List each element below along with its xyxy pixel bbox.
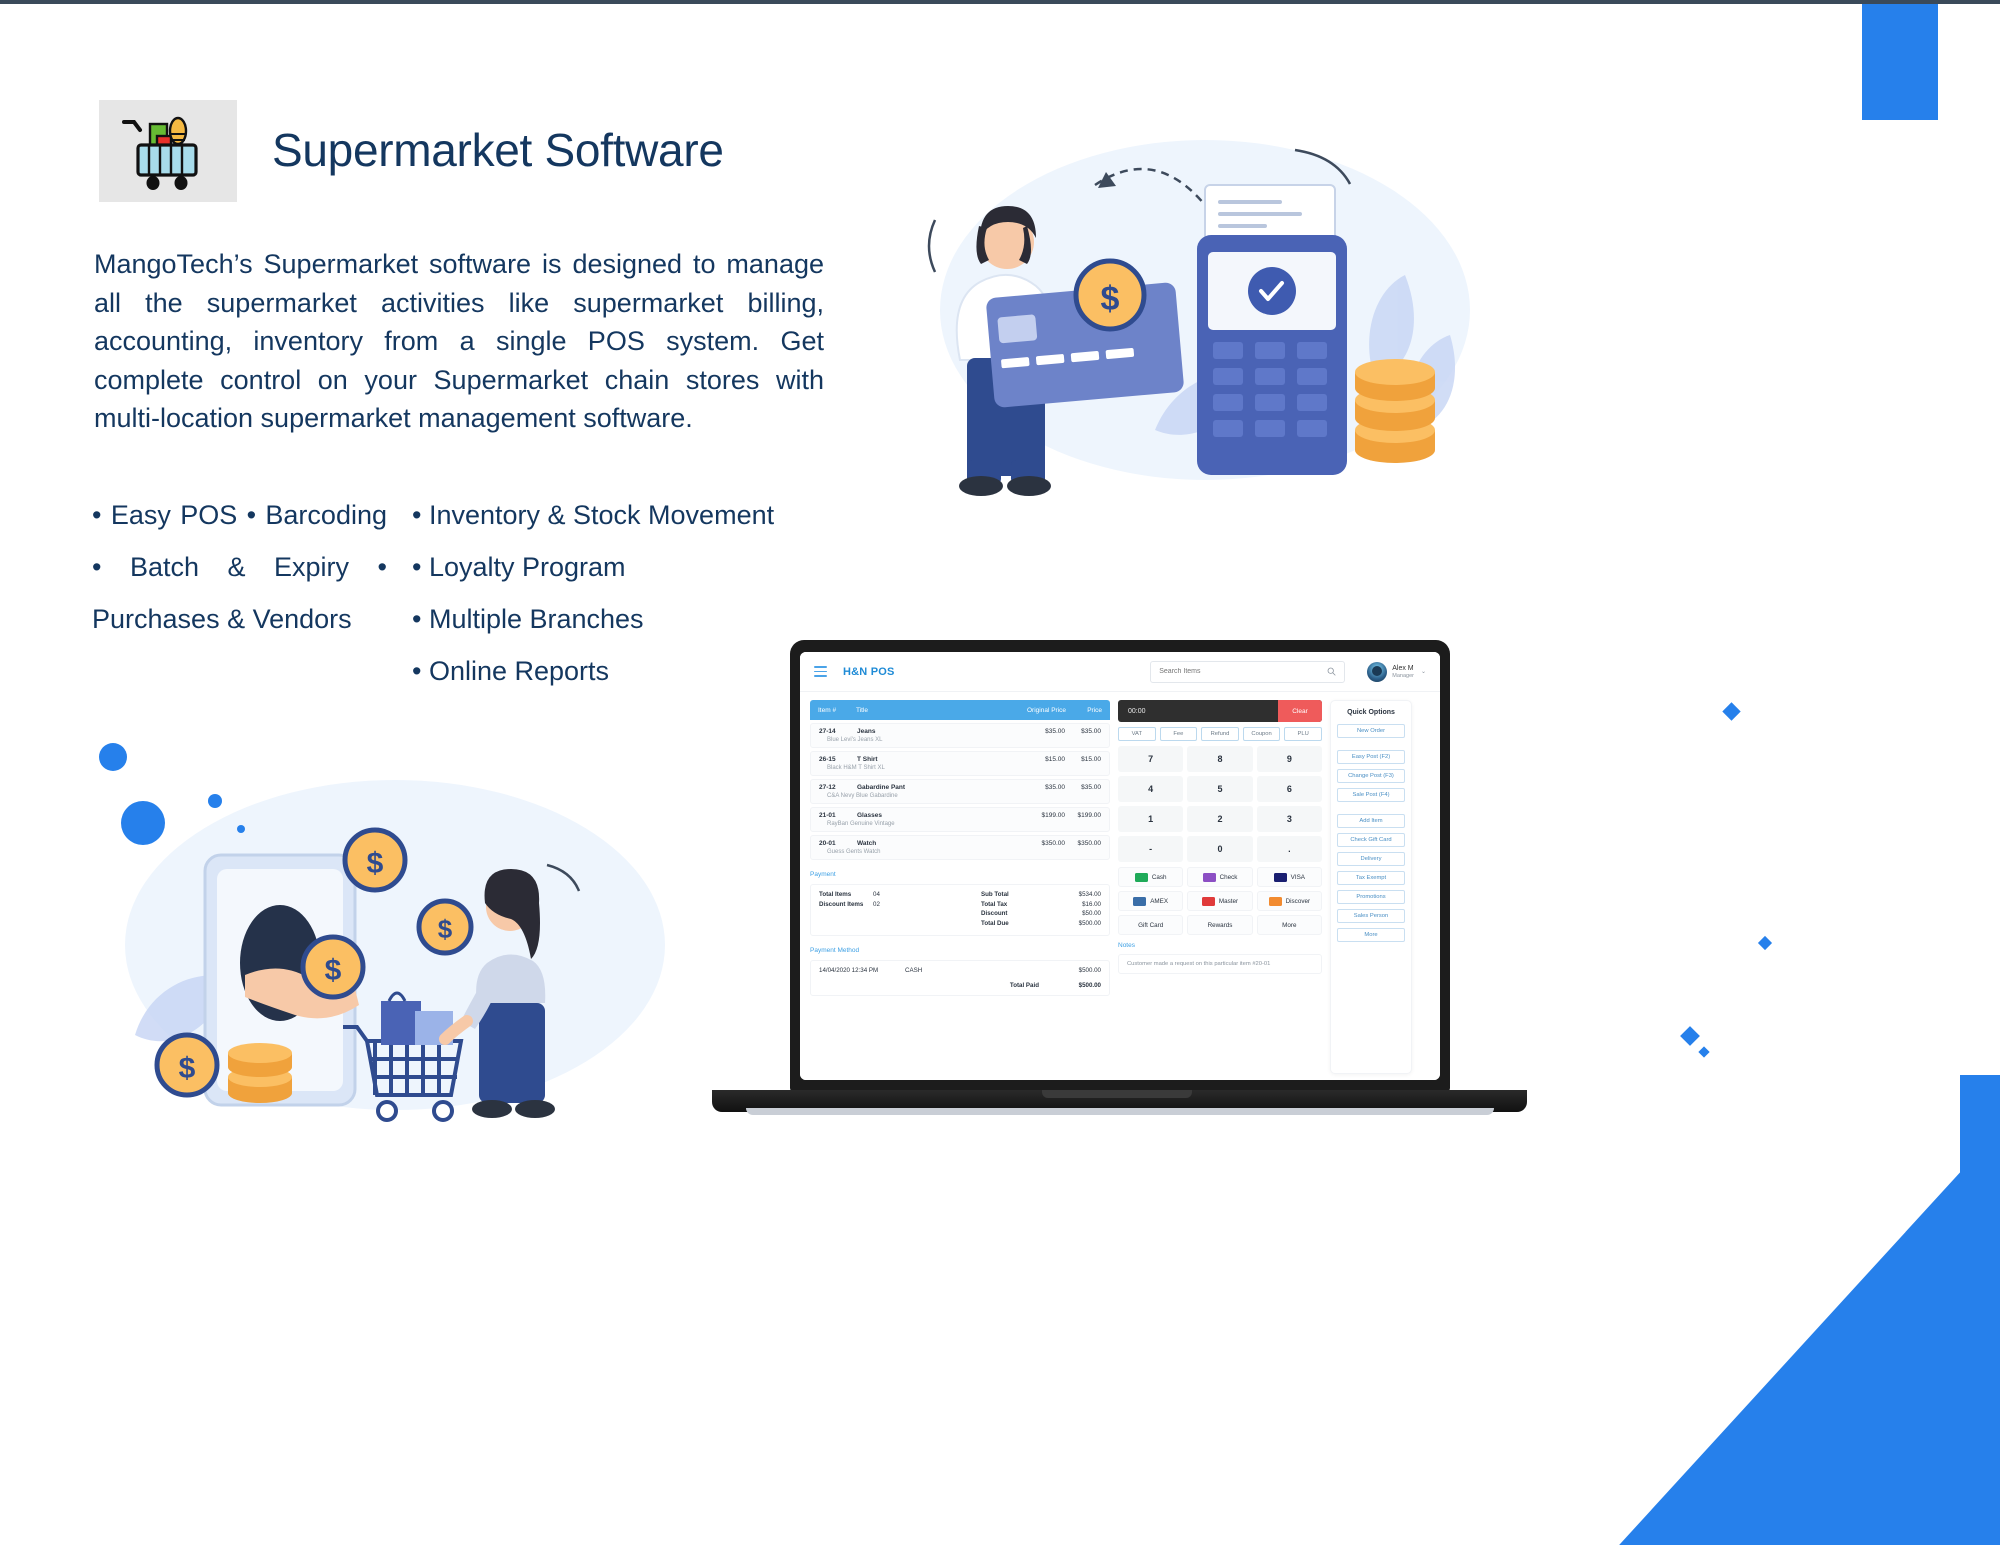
- pos-application: H&N POS Alex M Manag: [800, 652, 1440, 1080]
- laptop-body: H&N POS Alex M Manag: [790, 640, 1450, 1092]
- mobile-shopping-illustration: $ $ $ $: [95, 735, 670, 1125]
- bottom-right-blue-accent: [1480, 985, 2000, 1545]
- discount-items-label: Discount Items: [819, 901, 873, 908]
- pay-button-check[interactable]: Check: [1187, 867, 1252, 887]
- card-terminal-illustration: $: [905, 130, 1485, 530]
- cell-title: Glasses: [857, 812, 1011, 819]
- user-name: Alex M: [1392, 664, 1414, 673]
- payment-summary: Total Items 04 Discount Items 02: [810, 884, 1110, 936]
- cell-title: Watch: [857, 840, 1011, 847]
- cell-description: RayBan Genuine Vintage: [827, 821, 1101, 827]
- key-6[interactable]: 6: [1257, 776, 1322, 802]
- pay-button-rewards[interactable]: Rewards: [1187, 915, 1252, 935]
- svg-text:$: $: [367, 847, 384, 880]
- keypad-panel: 00:00 Clear VAT Fee Refund Coupon PLU: [1118, 700, 1322, 1074]
- pos-body: Item # Title Original Price Price 27-14: [800, 692, 1440, 1080]
- svg-text:$: $: [1101, 280, 1120, 318]
- cell-price: $35.00: [1065, 784, 1101, 791]
- feature-item: • Inventory & Stock Movement: [412, 489, 832, 541]
- total-items-value: 04: [873, 891, 880, 898]
- summary-label: Sub Total: [981, 891, 1053, 898]
- cell-original-price: $15.00: [1011, 756, 1065, 763]
- cell-description: Black H&M T Shirt XL: [827, 765, 1101, 771]
- discover-icon: [1269, 897, 1282, 906]
- summary-label: Discount: [981, 910, 1053, 917]
- top-rule-divider: [0, 0, 2000, 4]
- feature-item: • Multiple Branches: [412, 593, 832, 645]
- key-3[interactable]: 3: [1257, 806, 1322, 832]
- table-row[interactable]: 27-14 Jeans $35.00 $35.00 Blue Levi's Je…: [810, 723, 1110, 748]
- tab-refund[interactable]: Refund: [1201, 727, 1239, 741]
- pay-button-cash[interactable]: Cash: [1118, 867, 1183, 887]
- tab-coupon[interactable]: Coupon: [1243, 727, 1281, 741]
- table-row[interactable]: 27-12 Gabardine Pant $35.00 $35.00 C&A N…: [810, 779, 1110, 804]
- cell-original-price: $199.00: [1011, 812, 1065, 819]
- table-row[interactable]: 26-15 T Shirt $15.00 $15.00 Black H&M T …: [810, 751, 1110, 776]
- cell-item: 21-01: [819, 812, 857, 819]
- summary-value: $50.00: [1053, 910, 1101, 917]
- cell-price: $199.00: [1065, 812, 1101, 819]
- cell-title: Gabardine Pant: [857, 784, 1011, 791]
- laptop-screen: H&N POS Alex M Manag: [800, 652, 1440, 1080]
- search-icon: [1327, 667, 1336, 676]
- cell-item: 26-15: [819, 756, 857, 763]
- quick-options-panel: Quick Options New Order Easy Post (F2) C…: [1330, 700, 1412, 1074]
- laptop-foot: [746, 1108, 1494, 1115]
- intro-paragraph: MangoTech’s Supermarket software is desi…: [94, 245, 824, 438]
- hamburger-menu-icon[interactable]: [814, 666, 827, 676]
- key-7[interactable]: 7: [1118, 746, 1183, 772]
- pay-button-amex[interactable]: AMEX: [1118, 891, 1183, 911]
- key-9[interactable]: 9: [1257, 746, 1322, 772]
- laptop-notch: [1042, 1090, 1192, 1098]
- cell-description: C&A Nevy Blue Gabardine: [827, 793, 1101, 799]
- keypad-display: 00:00 Clear: [1118, 700, 1322, 722]
- cell-item: 27-12: [819, 784, 857, 791]
- cell-description: Blue Levi's Jeans XL: [827, 737, 1101, 743]
- notes-label: Notes: [1118, 942, 1322, 949]
- features-left-column: • Easy POS • Barcoding • Batch & Expiry …: [92, 489, 387, 645]
- visa-icon: [1274, 873, 1287, 882]
- payment-method-label: Payment Method: [810, 947, 1110, 954]
- payment-section-label: Payment: [810, 871, 1110, 878]
- cell-item: 20-01: [819, 840, 857, 847]
- poster-page: Supermarket Software MangoTech’s Superma…: [0, 0, 2000, 1545]
- payment-illustration: $: [905, 130, 1485, 530]
- quick-option-more[interactable]: More: [1337, 928, 1405, 942]
- pay-button-more[interactable]: More: [1257, 915, 1322, 935]
- cell-price: $15.00: [1065, 756, 1101, 763]
- summary-label: Total Tax: [981, 901, 1053, 908]
- quick-option-change-post[interactable]: Change Post (F3): [1337, 769, 1405, 783]
- search-input-wrapper[interactable]: [1150, 661, 1345, 683]
- key-dot[interactable]: .: [1257, 836, 1322, 862]
- decor-dot: [99, 743, 127, 771]
- summary-value: $500.00: [1053, 920, 1101, 927]
- column-header-price: Price: [1066, 707, 1102, 714]
- feature-item: • Loyalty Program: [412, 541, 832, 593]
- payment-method-row: 14/04/2020 12:34 PM CASH $500.00: [819, 967, 1101, 974]
- avatar: [1367, 662, 1387, 682]
- quick-option-tax-exempt[interactable]: Tax Exempt: [1337, 871, 1405, 885]
- column-header-item: Item #: [818, 707, 856, 714]
- quick-option-new-order[interactable]: New Order: [1337, 724, 1405, 738]
- quick-option-easy-post[interactable]: Easy Post (F2): [1337, 750, 1405, 764]
- chevron-down-icon[interactable]: ⌄: [1421, 668, 1426, 675]
- discount-items-value: 02: [873, 901, 880, 908]
- shopping-cart-icon: [116, 112, 220, 190]
- cell-item: 27-14: [819, 728, 857, 735]
- column-header-original-price: Original Price: [1012, 707, 1066, 714]
- payment-type: CASH: [905, 967, 1053, 974]
- decor-dot: [237, 825, 245, 833]
- pay-button-gift-card[interactable]: Gift Card: [1118, 915, 1183, 935]
- key-minus[interactable]: -: [1118, 836, 1183, 862]
- keypad-value: 00:00: [1118, 708, 1278, 715]
- amex-icon: [1133, 897, 1146, 906]
- notes-text: Customer made a request on this particul…: [1118, 954, 1322, 974]
- table-body: 27-14 Jeans $35.00 $35.00 Blue Levi's Je…: [810, 723, 1110, 860]
- payment-amount: $500.00: [1053, 967, 1101, 974]
- user-menu[interactable]: Alex M Manager ⌄: [1367, 662, 1426, 682]
- quick-option-sales-person[interactable]: Sales Person: [1337, 909, 1405, 923]
- svg-text:$: $: [438, 914, 453, 944]
- laptop-mockup: H&N POS Alex M Manag: [712, 640, 1527, 1120]
- mastercard-icon: [1202, 897, 1215, 906]
- key-5[interactable]: 5: [1187, 776, 1252, 802]
- tab-plu[interactable]: PLU: [1284, 727, 1322, 741]
- decor-diamond: [1758, 936, 1772, 950]
- search-input[interactable]: [1159, 668, 1321, 675]
- cash-icon: [1135, 873, 1148, 882]
- decor-dot: [121, 801, 165, 845]
- cell-price: $350.00: [1065, 840, 1101, 847]
- numeric-keypad: 7 8 9 4 5 6 1 2 3 - 0 .: [1118, 746, 1322, 862]
- page-title: Supermarket Software: [272, 123, 724, 177]
- table-row[interactable]: 20-01 Watch $350.00 $350.00 Guess Gents …: [810, 835, 1110, 860]
- key-1[interactable]: 1: [1118, 806, 1183, 832]
- summary-value: $534.00: [1053, 891, 1101, 898]
- tab-vat[interactable]: VAT: [1118, 727, 1156, 741]
- order-panel: Item # Title Original Price Price 27-14: [810, 700, 1110, 1074]
- pos-brand-label: H&N POS: [843, 666, 895, 678]
- pay-button-discover[interactable]: Discover: [1257, 891, 1322, 911]
- svg-text:$: $: [325, 954, 342, 987]
- logo-box: [99, 100, 237, 202]
- key-4[interactable]: 4: [1118, 776, 1183, 802]
- top-right-blue-accent: [1862, 4, 1938, 120]
- payment-date: 14/04/2020 12:34 PM: [819, 967, 905, 974]
- quick-option-sale-post[interactable]: Sale Post (F4): [1337, 788, 1405, 802]
- summary-label: Total Due: [981, 920, 1053, 927]
- pay-button-master[interactable]: Master: [1187, 891, 1252, 911]
- user-role: Manager: [1392, 673, 1414, 680]
- total-paid-label: Total Paid: [819, 982, 1053, 989]
- quick-option-check-gift-card[interactable]: Check Gift Card: [1337, 833, 1405, 847]
- cell-description: Guess Gents Watch: [827, 849, 1101, 855]
- key-8[interactable]: 8: [1187, 746, 1252, 772]
- key-2[interactable]: 2: [1187, 806, 1252, 832]
- decor-dot: [208, 794, 222, 808]
- quick-option-promotions[interactable]: Promotions: [1337, 890, 1405, 904]
- cell-original-price: $35.00: [1011, 784, 1065, 791]
- key-0[interactable]: 0: [1187, 836, 1252, 862]
- pay-button-visa[interactable]: VISA: [1257, 867, 1322, 887]
- column-header-title: Title: [856, 707, 1012, 714]
- decor-diamond: [1722, 702, 1740, 720]
- table-row[interactable]: 21-01 Glasses $199.00 $199.00 RayBan Gen…: [810, 807, 1110, 832]
- quick-option-delivery[interactable]: Delivery: [1337, 852, 1405, 866]
- cell-price: $35.00: [1065, 728, 1101, 735]
- check-icon: [1203, 873, 1216, 882]
- keypad-tabs: VAT Fee Refund Coupon PLU: [1118, 727, 1322, 741]
- payment-method-box: 14/04/2020 12:34 PM CASH $500.00 Total P…: [810, 960, 1110, 996]
- total-paid-row: Total Paid $500.00: [819, 982, 1101, 989]
- tab-fee[interactable]: Fee: [1160, 727, 1198, 741]
- pos-topbar: H&N POS Alex M Manag: [800, 652, 1440, 692]
- quick-options-title: Quick Options: [1347, 709, 1395, 716]
- cell-original-price: $35.00: [1011, 728, 1065, 735]
- svg-text:$: $: [179, 1052, 196, 1085]
- cell-original-price: $350.00: [1011, 840, 1065, 847]
- shopping-illustration: $ $ $ $: [95, 735, 670, 1125]
- total-paid-value: $500.00: [1053, 982, 1101, 989]
- quick-option-add-item[interactable]: Add Item: [1337, 814, 1405, 828]
- cell-title: Jeans: [857, 728, 1011, 735]
- payment-buttons: Cash Check VISA: [1118, 867, 1322, 935]
- clear-button[interactable]: Clear: [1278, 700, 1322, 722]
- items-table: Item # Title Original Price Price 27-14: [810, 700, 1110, 860]
- summary-value: $16.00: [1053, 901, 1101, 908]
- total-items-label: Total Items: [819, 891, 873, 898]
- table-header-row: Item # Title Original Price Price: [810, 700, 1110, 720]
- cell-title: T Shirt: [857, 756, 1011, 763]
